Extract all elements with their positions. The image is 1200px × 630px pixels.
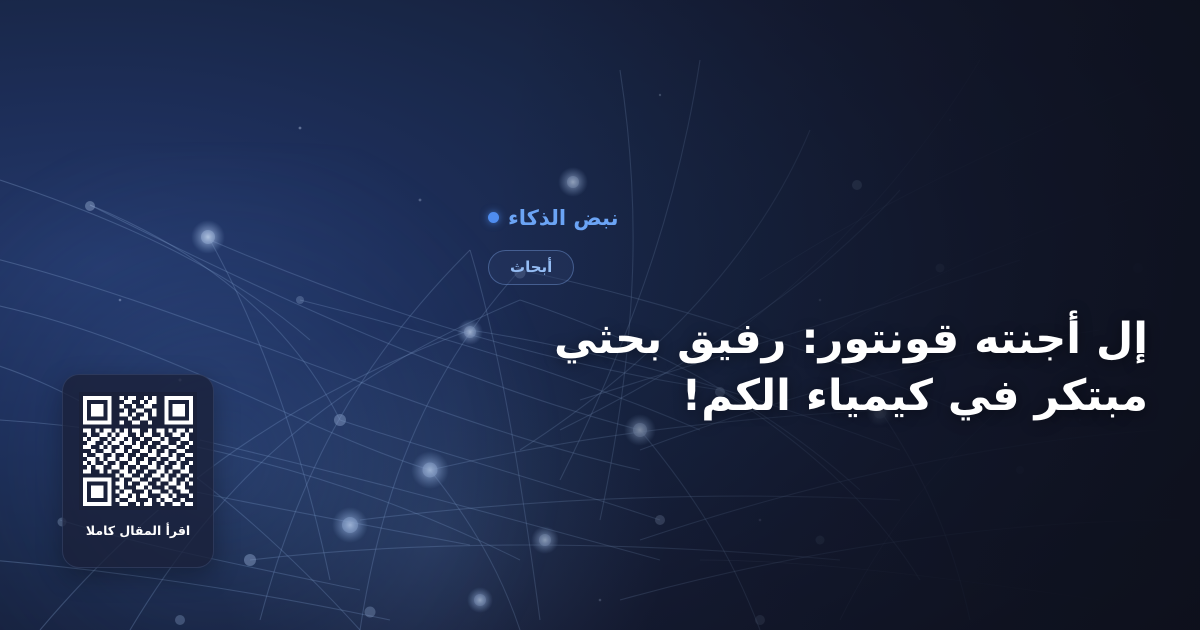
brand-name-label: نبض الذكاء [508, 206, 618, 230]
page-title: إل أجنته قونتور: رفيق بحثي مبتكر في كيمي… [488, 311, 1148, 425]
brand-name: نبض الذكاء [488, 206, 618, 230]
qr-card[interactable]: اقرأ المقال كاملا [62, 374, 214, 568]
category-badge[interactable]: أبحاث [488, 250, 574, 285]
brand-dot-icon [488, 212, 499, 223]
social-card-canvas: نبض الذكاء أبحاث إل أجنته قونتور: رفيق ب… [0, 0, 1200, 630]
content-stack: نبض الذكاء أبحاث إل أجنته قونتور: رفيق ب… [488, 0, 1148, 630]
qr-card-caption: اقرأ المقال كاملا [86, 523, 190, 538]
qr-code-icon [79, 392, 197, 510]
